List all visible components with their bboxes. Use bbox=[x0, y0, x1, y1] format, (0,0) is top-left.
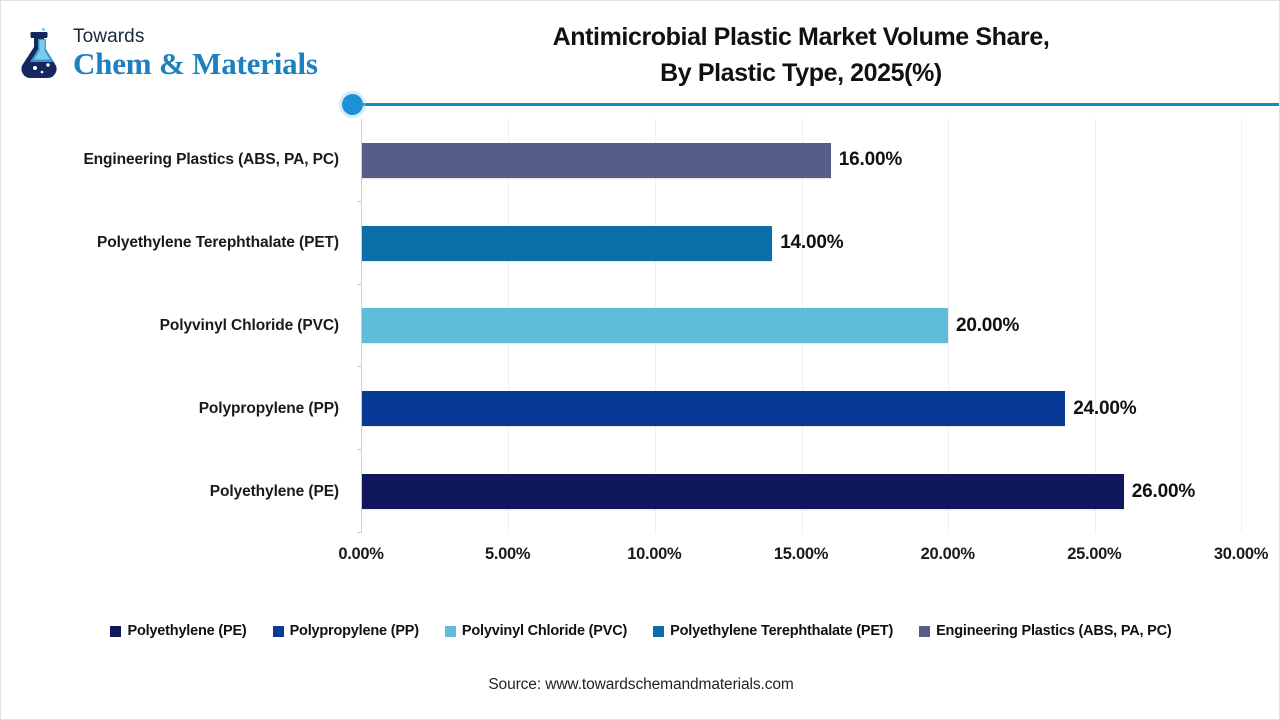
brand-logo[interactable]: Towards Chem & Materials bbox=[19, 27, 318, 79]
bar-value-label: 26.00% bbox=[1132, 481, 1195, 503]
chart-title: Antimicrobial Plastic Market Volume Shar… bbox=[391, 19, 1211, 92]
chart-page: Towards Chem & Materials Antimicrobial P… bbox=[0, 0, 1280, 720]
legend-item[interactable]: Polypropylene (PP) bbox=[273, 623, 419, 639]
bar-row[interactable]: 24.00% bbox=[362, 367, 1241, 450]
category-label: Polypropylene (PP) bbox=[1, 367, 349, 450]
bar-rows: 16.00%14.00%20.00%24.00%26.00% bbox=[362, 119, 1241, 533]
source-note: Source: www.towardschemandmaterials.com bbox=[1, 676, 1280, 694]
legend-swatch-icon bbox=[445, 626, 456, 637]
category-label: Polyethylene (PE) bbox=[1, 450, 349, 533]
legend-label: Polypropylene (PP) bbox=[290, 623, 419, 639]
value-axis-tick-label: 10.00% bbox=[627, 545, 681, 564]
header-divider-line bbox=[353, 103, 1280, 106]
category-axis-labels: Engineering Plastics (ABS, PA, PC)Polyet… bbox=[1, 119, 349, 533]
bar-row[interactable]: 14.00% bbox=[362, 202, 1241, 285]
bar[interactable] bbox=[362, 143, 831, 178]
legend-label: Polyvinyl Chloride (PVC) bbox=[462, 623, 627, 639]
bar-value-label: 16.00% bbox=[839, 149, 902, 171]
bar[interactable] bbox=[362, 226, 772, 261]
brand-wordmark: Towards Chem & Materials bbox=[73, 27, 318, 79]
bar[interactable] bbox=[362, 474, 1124, 509]
chart-title-line-1: Antimicrobial Plastic Market Volume Shar… bbox=[391, 19, 1211, 55]
value-axis-tick-label: 30.00% bbox=[1214, 545, 1268, 564]
bar[interactable] bbox=[362, 308, 948, 343]
bar-value-label: 14.00% bbox=[780, 232, 843, 254]
category-tick bbox=[357, 532, 362, 533]
brand-name-top: Towards bbox=[73, 27, 318, 46]
plot-canvas: 16.00%14.00%20.00%24.00%26.00% bbox=[361, 119, 1241, 533]
value-axis-tick-label: 15.00% bbox=[774, 545, 828, 564]
value-axis-tick-label: 20.00% bbox=[921, 545, 975, 564]
category-label: Engineering Plastics (ABS, PA, PC) bbox=[1, 119, 349, 202]
legend-swatch-icon bbox=[110, 626, 121, 637]
category-label: Polyvinyl Chloride (PVC) bbox=[1, 285, 349, 368]
category-label: Polyethylene Terephthalate (PET) bbox=[1, 202, 349, 285]
bar-row[interactable]: 20.00% bbox=[362, 285, 1241, 368]
value-axis: 0.00%5.00%10.00%15.00%20.00%25.00%30.00% bbox=[361, 535, 1241, 569]
legend-swatch-icon bbox=[653, 626, 664, 637]
chart-title-line-2: By Plastic Type, 2025(%) bbox=[391, 55, 1211, 91]
value-axis-tick-label: 0.00% bbox=[338, 545, 383, 564]
legend-label: Polyethylene (PE) bbox=[127, 623, 246, 639]
flask-icon bbox=[19, 27, 65, 79]
bar-row[interactable]: 26.00% bbox=[362, 450, 1241, 533]
value-axis-tick-label: 5.00% bbox=[485, 545, 530, 564]
gridline bbox=[1241, 119, 1242, 533]
chart-plot-area: Engineering Plastics (ABS, PA, PC)Polyet… bbox=[1, 119, 1280, 539]
bar-value-label: 20.00% bbox=[956, 315, 1019, 337]
legend-item[interactable]: Polyethylene (PE) bbox=[110, 623, 246, 639]
legend-label: Engineering Plastics (ABS, PA, PC) bbox=[936, 623, 1171, 639]
bar-value-label: 24.00% bbox=[1073, 398, 1136, 420]
chart-legend: Polyethylene (PE)Polypropylene (PP)Polyv… bbox=[1, 623, 1280, 639]
legend-item[interactable]: Polyvinyl Chloride (PVC) bbox=[445, 623, 627, 639]
legend-item[interactable]: Polyethylene Terephthalate (PET) bbox=[653, 623, 893, 639]
header-divider-dot bbox=[342, 94, 363, 115]
bar[interactable] bbox=[362, 391, 1065, 426]
bar-row[interactable]: 16.00% bbox=[362, 119, 1241, 202]
legend-swatch-icon bbox=[919, 626, 930, 637]
value-axis-tick-label: 25.00% bbox=[1067, 545, 1121, 564]
page-header: Towards Chem & Materials Antimicrobial P… bbox=[1, 1, 1280, 101]
legend-item[interactable]: Engineering Plastics (ABS, PA, PC) bbox=[919, 623, 1171, 639]
legend-label: Polyethylene Terephthalate (PET) bbox=[670, 623, 893, 639]
legend-swatch-icon bbox=[273, 626, 284, 637]
brand-name-bottom: Chem & Materials bbox=[73, 48, 318, 79]
